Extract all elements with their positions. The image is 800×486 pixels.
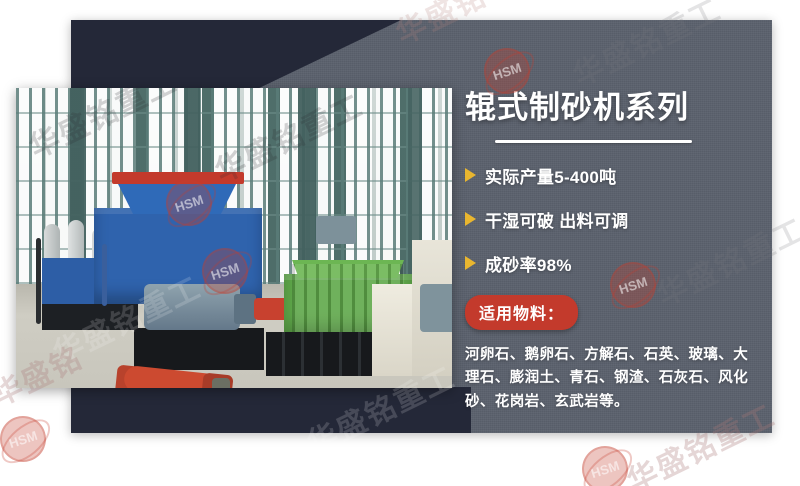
- hsm-logo-icon: HSM: [0, 410, 52, 468]
- machine-base-frame: [134, 328, 264, 370]
- machine-cream-cabinet: [372, 284, 416, 376]
- panel-bottom-band: [71, 387, 471, 433]
- machine-electric-motor: [144, 284, 240, 330]
- arrow-bullet-icon: [465, 212, 476, 226]
- product-title: 辊式制砂机系列: [465, 90, 755, 126]
- feature-item: 干湿可破 出料可调: [465, 207, 755, 232]
- machine-pipe: [36, 238, 41, 324]
- title-divider: [495, 140, 692, 143]
- feature-label: 干湿可破 出料可调: [485, 207, 628, 232]
- hsm-logo-icon: HSM: [576, 440, 634, 486]
- product-info: 辊式制砂机系列 实际产量5-400吨 干湿可破 出料可调 成砂率98% 适用物料…: [465, 90, 755, 414]
- feature-label: 成砂率98%: [485, 251, 572, 276]
- feature-item: 成砂率98%: [465, 251, 755, 276]
- machine-pipe: [102, 244, 107, 306]
- machine-blue-hopper: [116, 180, 238, 214]
- watermark-logo: HSM: [0, 416, 46, 462]
- product-photo: 华盛铭重工 华盛铭重工 HSM 华盛铭重工 HSM: [16, 88, 452, 388]
- materials-badge: 适用物料：: [465, 295, 578, 330]
- feature-list: 实际产量5-400吨 干湿可破 出料可调 成砂率98%: [465, 163, 755, 276]
- materials-badge-row: 适用物料：: [465, 295, 755, 330]
- machine-drive-shaft-hub: [212, 378, 230, 388]
- machine-grey-motor: [420, 284, 452, 332]
- logo-ring-icon: [576, 441, 640, 486]
- machine-red-hopper-lid: [112, 172, 244, 184]
- arrow-bullet-icon: [465, 168, 476, 182]
- watermark-logo: HSM: [582, 446, 628, 486]
- machine-red-coupling: [254, 298, 288, 320]
- feature-item: 实际产量5-400吨: [465, 163, 755, 188]
- promo-banner: 华盛铭重工 华盛铭重工 HSM 华盛铭重工 HSM 辊式制砂机系列: [0, 0, 800, 486]
- machine-motor-end: [234, 294, 256, 324]
- machine-blue-side-unit: [42, 258, 94, 308]
- logo-ring-icon: [0, 411, 58, 471]
- arrow-bullet-icon: [465, 256, 476, 270]
- machine-base-frame: [42, 304, 138, 330]
- materials-text: 河卵石、鹅卵石、方解石、石英、玻璃、大理石、膨润土、青石、钢渣、石灰石、风化砂、…: [465, 344, 751, 414]
- feature-label: 实际产量5-400吨: [485, 163, 616, 188]
- machine-grey-box: [316, 216, 356, 244]
